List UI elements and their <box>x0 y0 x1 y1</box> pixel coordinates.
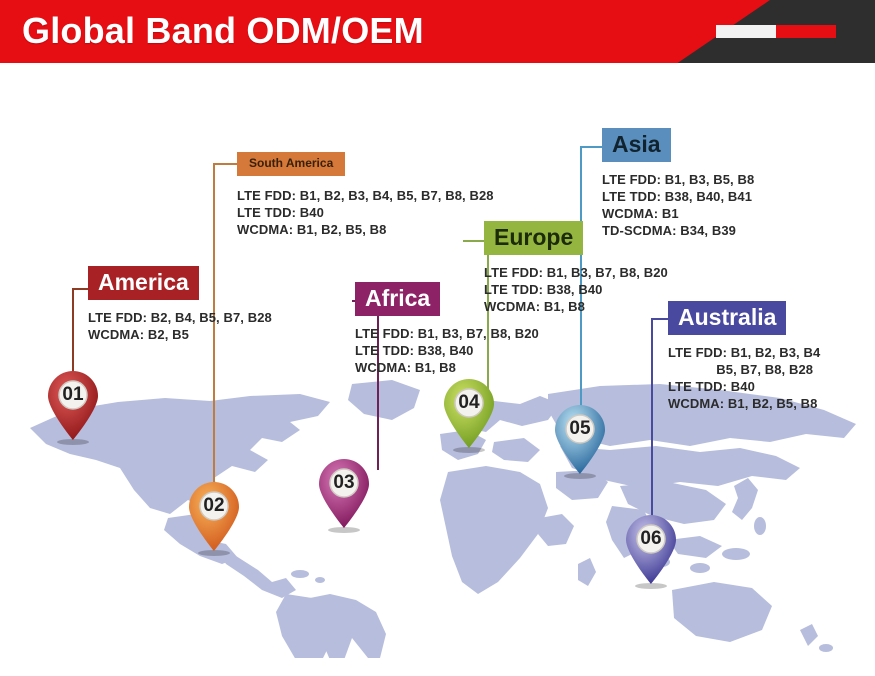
spec-line: TD-SCDMA: B34, B39 <box>602 223 736 238</box>
region-label-australia[interactable]: Australia <box>668 301 786 335</box>
region-label-europe[interactable]: Europe <box>484 221 583 255</box>
region-specs-europe: LTE FDD: B1, B3, B7, B8, B20LTE TDD: B38… <box>484 264 668 315</box>
spec-line: WCDMA: B1, B8 <box>355 360 456 375</box>
spec-line: WCDMA: B1, B8 <box>484 299 585 314</box>
spec-line: LTE FDD: B2, B4, B5, B7, B28 <box>88 310 272 325</box>
region-block-asia: Asia LTE FDD: B1, B3, B5, B8LTE TDD: B38… <box>602 128 754 239</box>
region-label-africa[interactable]: Africa <box>355 282 440 316</box>
map-pin-05[interactable]: 05 <box>551 404 609 480</box>
spec-line: B5, B7, B8, B28 <box>668 362 813 377</box>
spec-line: LTE FDD: B1, B3, B7, B8, B20 <box>355 326 539 341</box>
region-specs-africa: LTE FDD: B1, B3, B7, B8, B20LTE TDD: B38… <box>355 325 539 376</box>
connector-south-america-stub <box>213 163 240 165</box>
map-pin-03[interactable]: 03 <box>315 458 373 534</box>
map-pin-04[interactable]: 04 <box>440 378 498 454</box>
spec-line: LTE TDD: B38, B40 <box>355 343 473 358</box>
spec-line: LTE FDD: B1, B2, B3, B4, B5, B7, B8, B28 <box>237 188 494 203</box>
region-label-south-america[interactable]: South America <box>237 152 345 176</box>
region-specs-australia: LTE FDD: B1, B2, B3, B4 B5, B7, B8, B28L… <box>668 344 820 412</box>
map-pin-02[interactable]: 02 <box>185 481 243 557</box>
spec-line: WCDMA: B1, B2, B5, B8 <box>668 396 817 411</box>
spec-line: WCDMA: B2, B5 <box>88 327 189 342</box>
spec-line: LTE FDD: B1, B2, B3, B4 <box>668 345 820 360</box>
spec-line: LTE TDD: B40 <box>668 379 755 394</box>
region-block-south-america: South America LTE FDD: B1, B2, B3, B4, B… <box>237 152 494 238</box>
connector-australia <box>651 318 653 528</box>
spec-line: LTE TDD: B38, B40 <box>484 282 602 297</box>
region-label-asia[interactable]: Asia <box>602 128 671 162</box>
spec-line: WCDMA: B1, B2, B5, B8 <box>237 222 386 237</box>
region-block-america: America LTE FDD: B2, B4, B5, B7, B28WCDM… <box>88 266 272 343</box>
page-title: Global Band ODM/OEM <box>22 4 424 58</box>
region-specs-america: LTE FDD: B2, B4, B5, B7, B28WCDMA: B2, B… <box>88 309 272 343</box>
page-header: Global Band ODM/OEM <box>0 0 875 63</box>
spec-line: LTE FDD: B1, B3, B7, B8, B20 <box>484 265 668 280</box>
region-specs-south-america: LTE FDD: B1, B2, B3, B4, B5, B7, B8, B28… <box>237 187 494 238</box>
region-specs-asia: LTE FDD: B1, B3, B5, B8LTE TDD: B38, B40… <box>602 171 754 239</box>
logo-bar-red-segment <box>776 25 836 38</box>
map-pin-06[interactable]: 06 <box>622 514 680 590</box>
logo-bar <box>716 25 836 38</box>
logo-bar-white-segment <box>716 25 776 38</box>
map-pin-01[interactable]: 01 <box>44 370 102 446</box>
spec-line: LTE FDD: B1, B3, B5, B8 <box>602 172 754 187</box>
spec-line: WCDMA: B1 <box>602 206 679 221</box>
region-label-america[interactable]: America <box>88 266 199 300</box>
region-block-australia: Australia LTE FDD: B1, B2, B3, B4 B5, B7… <box>668 301 820 412</box>
spec-line: LTE TDD: B40 <box>237 205 324 220</box>
spec-line: LTE TDD: B38, B40, B41 <box>602 189 752 204</box>
connector-america <box>72 288 74 383</box>
